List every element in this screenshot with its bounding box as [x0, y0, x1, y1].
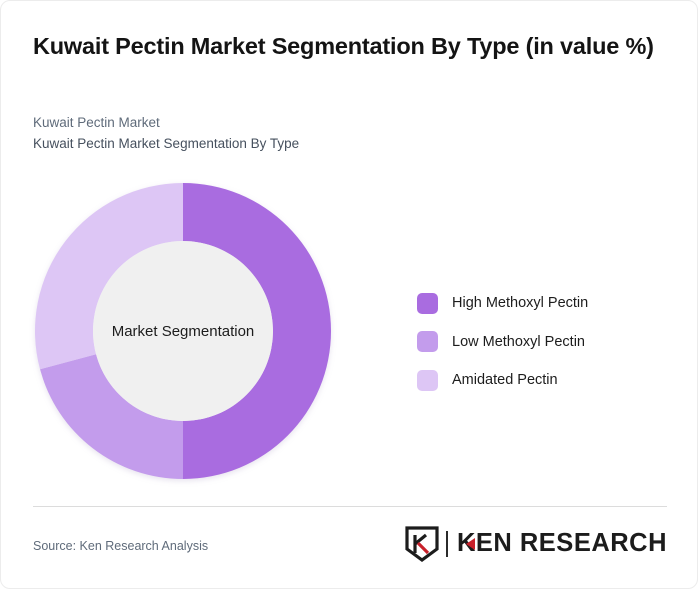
- legend-label-amidated: Amidated Pectin: [452, 372, 558, 388]
- legend-item-low-methoxyl[interactable]: Low Methoxyl Pectin: [417, 323, 667, 362]
- logo-divider: [446, 531, 448, 557]
- legend-label-high-methoxyl: High Methoxyl Pectin: [452, 295, 588, 311]
- source-note: Source: Ken Research Analysis: [33, 539, 208, 553]
- subtitle-segmentation: Kuwait Pectin Market Segmentation By Typ…: [33, 135, 299, 153]
- logo-wordmark: K EN RESEARCH: [457, 531, 667, 557]
- chart-card: Kuwait Pectin Market Segmentation By Typ…: [0, 0, 698, 589]
- donut-center-label: Market Segmentation: [112, 323, 255, 340]
- subtitle-market: Kuwait Pectin Market: [33, 114, 160, 132]
- donut-chart: Market Segmentation: [35, 183, 331, 479]
- page-title: Kuwait Pectin Market Segmentation By Typ…: [33, 31, 665, 61]
- ken-research-shield-icon: [405, 526, 439, 562]
- legend-swatch-low-methoxyl: [417, 331, 438, 352]
- legend-swatch-amidated: [417, 370, 438, 391]
- legend-item-amidated[interactable]: Amidated Pectin: [417, 361, 667, 400]
- legend-label-low-methoxyl: Low Methoxyl Pectin: [452, 334, 585, 350]
- chart-legend: High Methoxyl Pectin Low Methoxyl Pectin…: [417, 284, 667, 400]
- footer-divider: [33, 506, 667, 507]
- legend-swatch-high-methoxyl: [417, 293, 438, 314]
- donut-center-hole: Market Segmentation: [93, 241, 273, 421]
- legend-item-high-methoxyl[interactable]: High Methoxyl Pectin: [417, 284, 667, 323]
- logo-k-letter: K: [457, 531, 476, 557]
- logo-text-rest: EN RESEARCH: [476, 531, 667, 557]
- ken-research-logo: K EN RESEARCH: [405, 525, 667, 563]
- logo-triangle-accent: [466, 538, 475, 550]
